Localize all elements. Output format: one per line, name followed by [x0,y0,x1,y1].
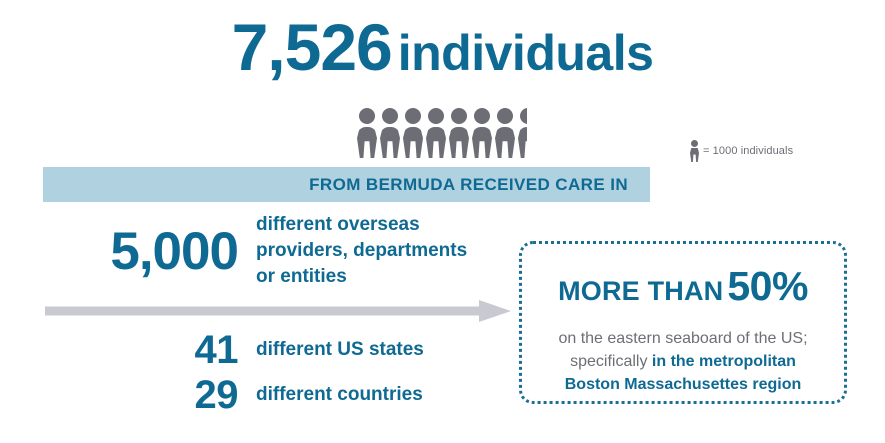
person-body [518,127,527,158]
right-arrow-icon [45,300,511,322]
stat-label: different US states [256,339,424,362]
callout-body-line-2-emphasis: in the metropolitan [652,353,796,370]
banner-text: FROM BERMUDA RECEIVED CARE IN [309,175,628,195]
stat-number: 29 [58,375,238,415]
person-body [495,127,515,158]
person-body [690,148,699,162]
person-head [382,108,398,124]
headline: 7,526individuals [0,14,885,80]
legend-label: = 1000 individuals [703,145,793,157]
person-head [520,108,527,124]
stat-us-states: 41 different US states [58,330,498,370]
callout-body-line-3-emphasis: Boston Massachusettes region [565,376,802,393]
person-icon [495,108,515,158]
stat-label-line-2: providers, departments [256,240,467,261]
person-body [449,127,469,158]
stat-label-line-1: different overseas [256,214,420,235]
stat-label: different countries [256,384,423,407]
stat-number: 41 [58,330,238,370]
callout-more-than: MORE THAN [558,276,723,306]
infographic-canvas: 7,526individuals [0,0,885,443]
person-head [474,108,490,124]
callout-body: on the eastern seaboard of the US; speci… [538,327,828,397]
person-icon [690,140,699,162]
callout-body-line-1: on the eastern seaboard of the US; [558,330,807,347]
person-head [691,140,698,147]
person-icon [426,108,446,158]
callout-body-line-2-gray: specifically [570,353,647,370]
stat-overseas-providers: 5,000 different overseas providers, depa… [58,212,498,291]
callout-box: MORE THAN50% on the eastern seaboard of … [519,241,847,404]
person-body [380,127,400,158]
person-body [426,127,446,158]
legend: = 1000 individuals [690,138,793,164]
headline-number: 7,526 [232,10,392,84]
person-icon [380,108,400,158]
person-icon [403,108,423,158]
headline-word: individuals [398,25,654,81]
person-head [428,108,444,124]
person-icon-partial [518,108,527,158]
person-body [472,127,492,158]
person-body [403,127,423,158]
stat-countries: 29 different countries [58,375,498,415]
callout-headline: MORE THAN50% [538,266,828,307]
person-head [405,108,421,124]
person-body [357,127,377,158]
person-head [451,108,467,124]
stat-label-line-3: or entities [256,266,347,287]
people-pictogram [357,106,541,158]
stat-number: 5,000 [58,225,238,278]
person-icon [449,108,469,158]
person-head [497,108,513,124]
banner: FROM BERMUDA RECEIVED CARE IN [43,167,650,202]
person-head [359,108,375,124]
callout-percent: 50% [727,263,808,309]
stat-label: different overseas providers, department… [256,212,467,291]
person-icon [357,108,377,158]
person-icon [472,108,492,158]
